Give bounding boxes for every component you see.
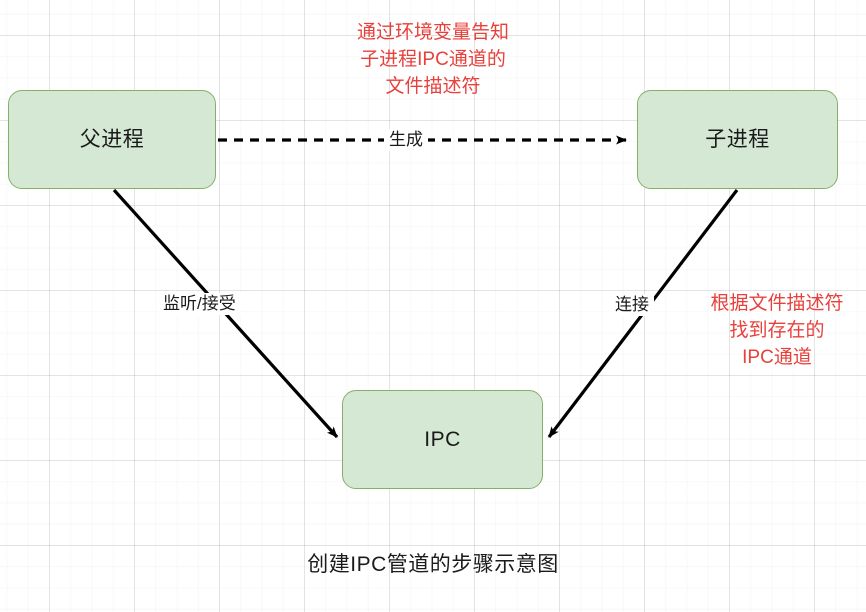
annotation-env-var-note: 通过环境变量告知 子进程IPC通道的 文件描述符 bbox=[333, 20, 533, 101]
node-child-process[interactable]: 子进程 bbox=[637, 90, 838, 189]
node-parent-process-label: 父进程 bbox=[80, 127, 145, 152]
node-child-process-label: 子进程 bbox=[705, 127, 770, 152]
node-ipc[interactable]: IPC bbox=[342, 390, 543, 489]
edge-label-connect: 连接 bbox=[610, 294, 654, 316]
diagram-caption: 创建IPC管道的步骤示意图 bbox=[0, 548, 866, 578]
node-ipc-label: IPC bbox=[424, 427, 461, 452]
diagram-canvas: 父进程 子进程 IPC 生成 监听/接受 连接 通过环境变量告知 子进程IPC通… bbox=[0, 0, 866, 612]
edge-label-spawn: 生成 bbox=[384, 129, 428, 151]
annotation-find-channel-note: 根据文件描述符 找到存在的 IPC通道 bbox=[688, 291, 866, 372]
node-parent-process[interactable]: 父进程 bbox=[8, 90, 216, 189]
edge-label-listen: 监听/接受 bbox=[158, 293, 241, 315]
